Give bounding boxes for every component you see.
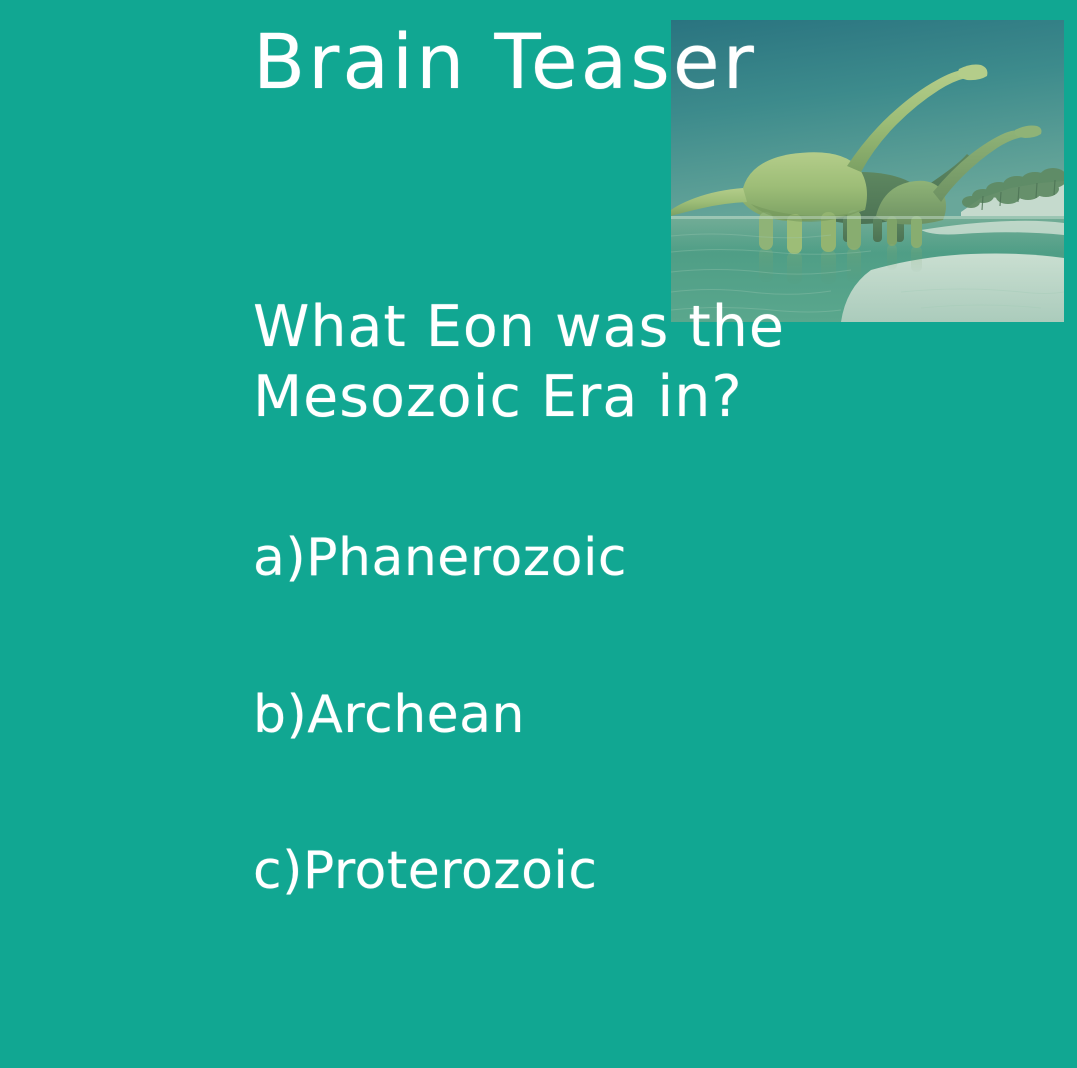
page-title: Brain Teaser bbox=[253, 16, 757, 108]
brain-teaser-slide: Brain Teaser What Eon was the Mesozoic E… bbox=[0, 0, 1077, 1068]
answer-option-b[interactable]: b)Archean bbox=[253, 684, 525, 746]
answer-option-a[interactable]: a)Phanerozoic bbox=[253, 527, 627, 589]
question-text: What Eon was the Mesozoic Era in? bbox=[253, 292, 785, 432]
answer-option-c[interactable]: c)Proterozoic bbox=[253, 840, 597, 902]
